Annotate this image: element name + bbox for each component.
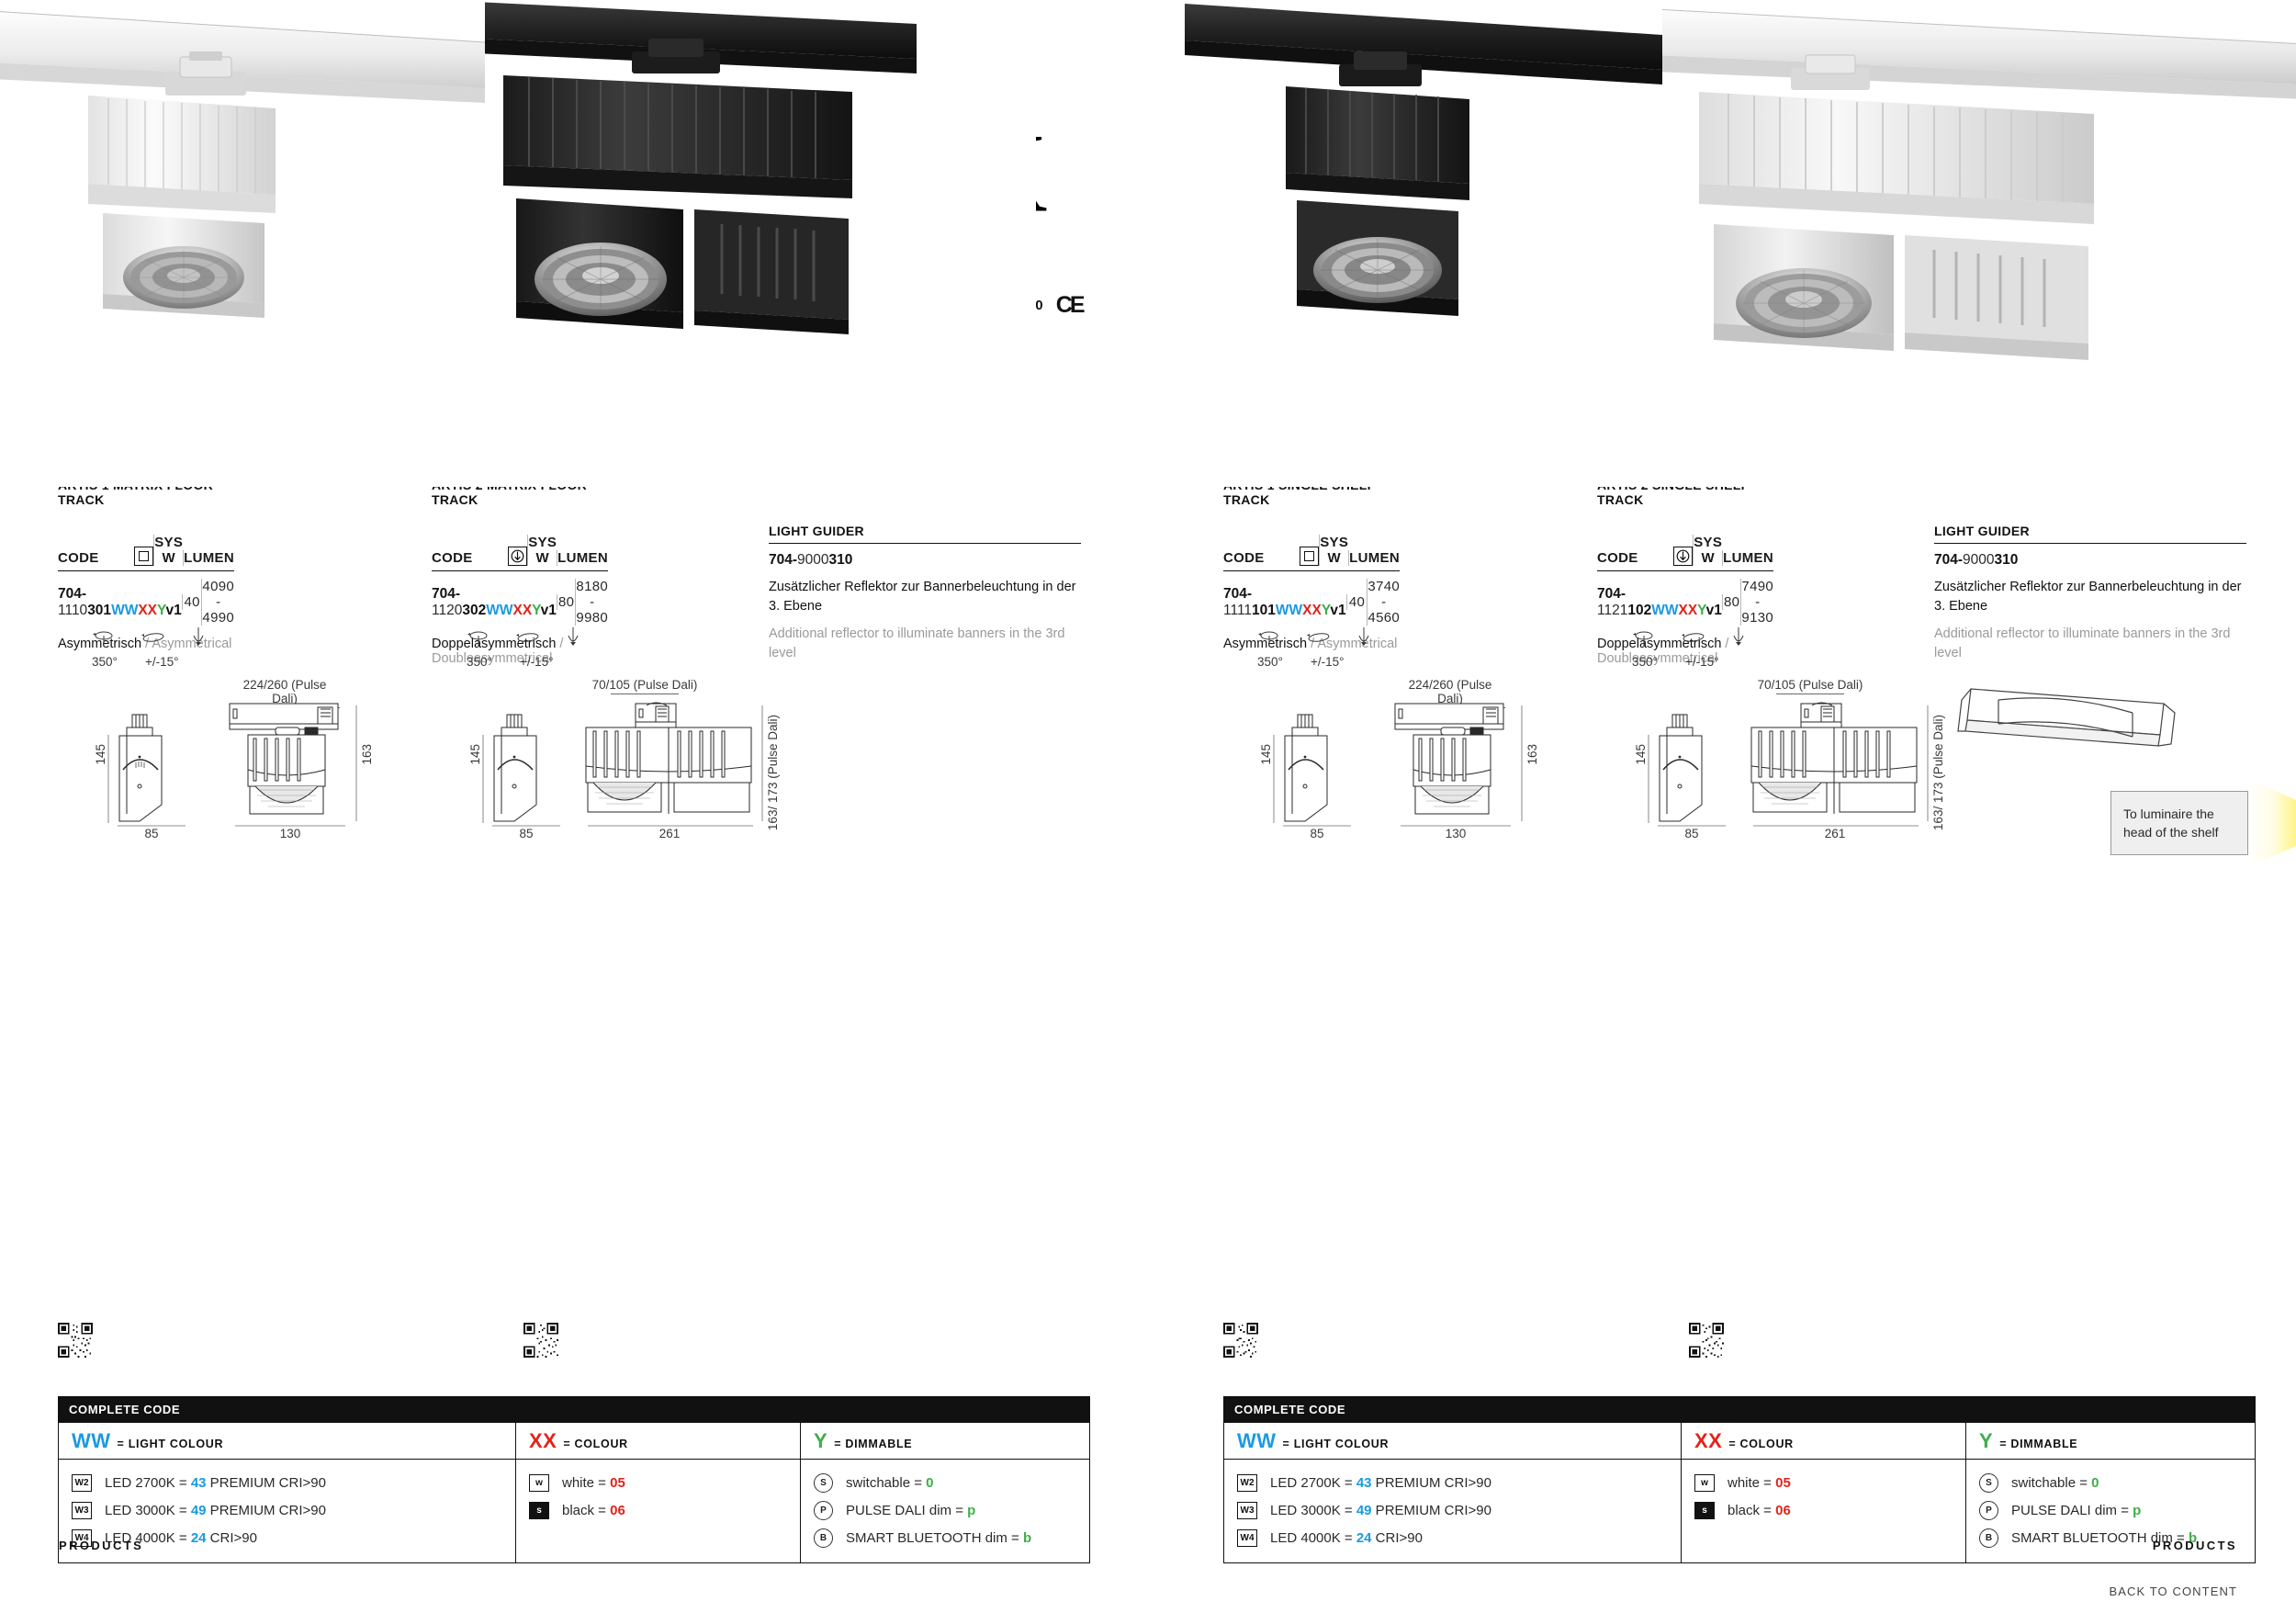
legend-key-y: Y <box>1979 1431 1993 1451</box>
front-width-arrow <box>1658 823 1726 829</box>
side-height-dim: 163/ 173 (Pulse Dali) <box>1931 715 1986 835</box>
col-header-symbol <box>134 547 153 566</box>
legend-body: WW = LIGHT COLOUR W2 LED 2700K = 43 PREM… <box>58 1423 1090 1563</box>
sys-w-value: 80 <box>557 594 576 610</box>
list-item: W3 LED 3000K = 49 PREMIUM CRI>90 <box>1237 1496 1668 1524</box>
col-header-code: CODE <box>1223 550 1300 566</box>
complete-code-legend-left: COMPLETE CODE WW = LIGHT COLOUR W2 LED 2… <box>58 1396 1090 1563</box>
rotation-horizontal-value: 350° <box>1632 655 1674 669</box>
item-value: 24 <box>1356 1530 1372 1546</box>
col-header-sysw: SYS W <box>153 535 183 566</box>
drawing-canvas: 224/260 (Pulse Dali) <box>1257 689 1551 827</box>
item-value: 43 <box>191 1475 207 1491</box>
sys-w-value: 40 <box>182 594 202 610</box>
table-header-row: CODE SYS W LUMEN <box>1597 535 1773 571</box>
legend-label-ww: = LIGHT COLOUR <box>1283 1438 1390 1450</box>
legend-label-xx: = COLOUR <box>563 1438 628 1450</box>
side-height-dim: 163/ 173 (Pulse Dali) <box>766 715 821 835</box>
light-guider-code: 704-9000310 <box>769 552 1081 569</box>
front-view-drawing <box>112 713 191 823</box>
item-tail: PREMIUM CRI>90 <box>207 1503 326 1518</box>
item-name: white = <box>562 1475 610 1491</box>
light-guider-title: LIGHT GUIDER <box>1934 524 2246 544</box>
list-item: W2 LED 2700K = 43 PREMIUM CRI>90 <box>72 1469 502 1496</box>
list-item: s black = 06 <box>529 1496 787 1524</box>
side-width-arrow <box>588 823 753 829</box>
table-header-row: CODE SYS W LUMEN <box>58 535 234 571</box>
rotate-horizontal-icon <box>467 628 490 650</box>
square-optic-icon <box>1300 547 1319 566</box>
legend-key-xx: XX <box>1694 1431 1722 1451</box>
lumen-value: 8180 - 9980 <box>575 579 608 626</box>
item-value: b <box>1023 1530 1031 1546</box>
col-header-sysw: SYS W <box>1693 535 1722 566</box>
rotation-horizontal-value: 350° <box>92 655 134 669</box>
qr-code-artis2-right[interactable] <box>1689 1323 1724 1358</box>
item-value: 24 <box>191 1530 207 1546</box>
list-item: W4 LED 4000K = 24 CRI>90 <box>1237 1524 1668 1551</box>
rotation-icons <box>92 626 386 650</box>
legend-col-colour: XX = COLOUR w white = 05 s black = 06 <box>1682 1423 1966 1562</box>
spec-block-artis1-right: ARTIS 1 SINGLE SHELF TRACK CODE SYS W LU… <box>1223 478 1400 651</box>
product-photo-white-matrix <box>0 0 485 487</box>
led-badge-w2: W2 <box>72 1474 92 1492</box>
legend-key-ww: WW <box>1237 1431 1277 1451</box>
product-code: 704-1121102WWXXYv1 <box>1597 586 1722 619</box>
rotation-labels: 350° +/-15° <box>1257 655 1551 669</box>
item-value: 49 <box>1356 1503 1372 1518</box>
rotation-tilt-value: +/-15° <box>1311 655 1345 669</box>
rotate-tilt-icon <box>1680 628 1707 650</box>
table-row: 704-1111101WWXXYv1 40 3740 - 4560 <box>1223 571 1400 629</box>
callout-box-text: To luminaire the head of the shelf <box>2110 791 2248 855</box>
legend-label-y: = DIMMABLE <box>834 1438 912 1450</box>
technical-drawing-artis2-right: 350° +/-15° 70/105 (Pulse Dali) <box>1632 626 1963 827</box>
light-guider-title: LIGHT GUIDER <box>769 524 1081 544</box>
rotation-labels: 350° +/-15° <box>92 655 386 669</box>
page-left: 042 ARTIS MATRIX TRACK ARTIS MATRIX FLOO… <box>0 0 1148 1624</box>
table-row: 704-1120302WWXXYv1 80 8180 - 9980 <box>432 571 608 629</box>
item-name: LED 3000K = <box>105 1503 191 1518</box>
table-row: 704-1121102WWXXYv1 80 7490 - 9130 <box>1597 571 1773 629</box>
legend-items: w white = 05 s black = 06 <box>516 1460 800 1535</box>
list-item: P PULSE DALI dim = p <box>1979 1496 2242 1524</box>
led-badge-w3: W3 <box>1237 1502 1257 1519</box>
qr-code-artis2-left[interactable] <box>523 1323 558 1358</box>
legend-bar-title: COMPLETE CODE <box>58 1396 1090 1423</box>
col-header-symbol <box>1300 547 1319 566</box>
side-view-drawing <box>582 702 757 823</box>
item-name: PULSE DALI dim = <box>2011 1503 2133 1518</box>
swivel-icon <box>191 626 206 650</box>
col-header-code: CODE <box>1597 550 1673 566</box>
list-item: W2 LED 2700K = 43 PREMIUM CRI>90 <box>1237 1469 1668 1496</box>
top-dimension: 70/105 (Pulse Dali) <box>1753 678 1867 694</box>
item-tail: CRI>90 <box>207 1530 257 1546</box>
item-tail: PREMIUM CRI>90 <box>207 1475 326 1491</box>
rotate-horizontal-icon <box>92 628 116 650</box>
technical-drawing-artis1-left: 350° +/-15° 224/260 (Pulse Dali) <box>92 626 386 827</box>
front-width-arrow <box>118 823 186 829</box>
side-width-arrow <box>1753 823 1919 829</box>
light-guider-code: 704-9000310 <box>1934 552 2246 569</box>
item-value: p <box>967 1503 975 1518</box>
col-header-lumen: LUMEN <box>1722 550 1773 566</box>
light-guider-block-left: LIGHT GUIDER 704-9000310 Zusätzlicher Re… <box>769 524 1081 663</box>
front-width-arrow <box>1283 823 1351 829</box>
side-width-dim: 130 <box>237 827 343 840</box>
item-name: LED 2700K = <box>105 1475 191 1491</box>
col-header-lumen: LUMEN <box>183 550 234 566</box>
item-tail: PREMIUM CRI>90 <box>1372 1503 1491 1518</box>
side-width-dim: 261 <box>591 827 748 840</box>
list-item: B SMART BLUETOOTH dim = b <box>814 1524 1076 1551</box>
double-optic-icon <box>508 547 527 566</box>
list-item: w white = 05 <box>529 1469 787 1496</box>
side-view-drawing <box>228 702 349 823</box>
product-photo-white-shelf <box>1662 0 2296 487</box>
side-height-arrow <box>353 705 360 821</box>
dim-badge-switchable: S <box>1979 1473 1998 1493</box>
catalog-spread: 042 ARTIS MATRIX TRACK ARTIS MATRIX FLOO… <box>0 0 2296 1624</box>
list-item: W3 LED 3000K = 49 PREMIUM CRI>90 <box>72 1496 502 1524</box>
item-name: LED 3000K = <box>1270 1503 1356 1518</box>
dim-badge-bluetooth: B <box>1979 1528 1998 1548</box>
rotation-icons <box>467 626 797 650</box>
front-width-dim: 85 <box>119 827 184 840</box>
led-badge-w2: W2 <box>1237 1474 1257 1492</box>
product-photo-black-shelf <box>1148 0 1662 487</box>
item-name: switchable = <box>846 1475 926 1491</box>
legend-col-dimmable: Y = DIMMABLE S switchable = 0 P PULSE DA… <box>801 1423 1089 1562</box>
dim-badge-pulse-dali: P <box>814 1501 833 1520</box>
item-value: 06 <box>1775 1503 1791 1518</box>
shelf-callout: To luminaire the head of the shelf ARTIS… <box>2110 779 2296 867</box>
legend-body: WW = LIGHT COLOUR W2 LED 2700K = 43 PREM… <box>1223 1423 2256 1563</box>
item-tail: PREMIUM CRI>90 <box>1372 1475 1491 1491</box>
col-header-sysw: SYS W <box>1319 535 1348 566</box>
front-height-arrow <box>479 735 487 823</box>
item-value: 05 <box>1775 1475 1791 1491</box>
legend-bar-title: COMPLETE CODE <box>1223 1396 2256 1423</box>
colour-badge-white: w <box>529 1474 549 1492</box>
light-guider-desc-en: Additional reflector to illuminate banne… <box>769 625 1081 663</box>
legend-items: w white = 05 s black = 06 <box>1682 1460 1965 1535</box>
legend-col-header: Y = DIMMABLE <box>1966 1423 2255 1460</box>
col-header-code: CODE <box>432 550 508 566</box>
rotation-horizontal-value: 350° <box>467 655 509 669</box>
code-table: CODE SYS W LUMEN 704-1120302WWXXYv1 80 8… <box>432 535 608 629</box>
lumen-value: 7490 - 9130 <box>1740 579 1773 626</box>
technical-drawing-artis2-left: 350° +/-15° 70/105 (Pulse Dali) <box>467 626 797 827</box>
side-view-drawing <box>1748 702 1922 823</box>
item-name: white = <box>1728 1475 1775 1491</box>
item-value: 0 <box>926 1475 933 1491</box>
lumen-value: 4090 - 4990 <box>201 579 234 626</box>
product-code: 704-1120302WWXXYv1 <box>432 586 557 619</box>
front-height-arrow <box>105 735 112 823</box>
qr-code-artis1-right[interactable] <box>1223 1323 1258 1358</box>
item-value: 0 <box>2091 1475 2099 1491</box>
item-tail: CRI>90 <box>1372 1530 1423 1546</box>
product-code: 704-1111101WWXXYv1 <box>1223 586 1346 619</box>
front-width-dim: 85 <box>494 827 558 840</box>
side-width-arrow <box>1401 823 1511 829</box>
code-table: CODE SYS W LUMEN 704-1110301WWXXYv1 40 4… <box>58 535 234 629</box>
dim-badge-pulse-dali: P <box>1979 1501 1998 1520</box>
colour-badge-white: w <box>1694 1474 1715 1492</box>
swivel-icon <box>1356 626 1371 650</box>
rotate-tilt-icon <box>514 628 542 650</box>
col-header-symbol <box>1673 547 1693 566</box>
legend-items: W2 LED 2700K = 43 PREMIUM CRI>90 W3 LED … <box>1224 1460 1681 1562</box>
ce-mark-icon: CE <box>1056 292 1083 319</box>
side-view-drawing <box>1393 702 1514 823</box>
item-name: LED 2700K = <box>1270 1475 1356 1491</box>
legend-col-header: XX = COLOUR <box>516 1423 800 1460</box>
footer-left: PRODUCTS <box>59 1539 143 1552</box>
dim-badge-switchable: S <box>814 1473 833 1493</box>
table-header-row: CODE SYS W LUMEN <box>1223 535 1400 571</box>
item-value: 05 <box>610 1475 625 1491</box>
drawing-canvas: 224/260 (Pulse Dali) <box>92 689 386 827</box>
front-view-drawing <box>1652 713 1731 823</box>
light-guider-desc-de: Zusätzlicher Reflektor zur Bannerbeleuch… <box>1934 578 2246 616</box>
light-cone-graphic <box>2248 779 2296 867</box>
rotation-tilt-value: +/-15° <box>145 655 179 669</box>
legend-label-y: = DIMMABLE <box>1999 1438 2077 1450</box>
table-header-row: CODE SYS W LUMEN <box>432 535 608 571</box>
dim-badge-bluetooth: B <box>814 1528 833 1548</box>
col-header-sysw: SYS W <box>527 535 557 566</box>
technical-drawing-artis1-right: 350° +/-15° 224/260 (Pulse Dali) <box>1257 626 1551 827</box>
item-name: black = <box>562 1503 610 1518</box>
complete-code-legend-right: COMPLETE CODE WW = LIGHT COLOUR W2 LED 2… <box>1223 1396 2256 1563</box>
legend-key-y: Y <box>814 1431 827 1451</box>
light-guider-desc-de: Zusätzlicher Reflektor zur Bannerbeleuch… <box>769 578 1081 616</box>
rotate-horizontal-icon <box>1632 628 1656 650</box>
legend-col-header: Y = DIMMABLE <box>801 1423 1089 1460</box>
rotation-labels: 350° +/-15° <box>467 655 797 669</box>
rotate-horizontal-icon <box>1257 628 1281 650</box>
front-width-dim: 85 <box>1660 827 1724 840</box>
item-name: SMART BLUETOOTH dim = <box>846 1530 1023 1546</box>
item-name: black = <box>1728 1503 1775 1518</box>
spec-block-artis1-left: ARTIS 1 MATRIX FLOOR TRACK CODE SYS W LU… <box>58 478 234 651</box>
item-name: PULSE DALI dim = <box>846 1503 967 1518</box>
legend-col-colour: XX = COLOUR w white = 05 s black = 06 <box>516 1423 801 1562</box>
front-height-arrow <box>1270 735 1277 823</box>
led-badge-w3: W3 <box>72 1502 92 1519</box>
rotation-tilt-value: +/-15° <box>1685 655 1719 669</box>
rotate-tilt-icon <box>140 628 167 650</box>
list-item: w white = 05 <box>1694 1469 1953 1496</box>
item-value: 43 <box>1356 1475 1372 1491</box>
legend-col-light-colour: WW = LIGHT COLOUR W2 LED 2700K = 43 PREM… <box>1224 1423 1682 1562</box>
light-guider-desc-en: Additional reflector to illuminate banne… <box>1934 625 2246 663</box>
table-row: 704-1110301WWXXYv1 40 4090 - 4990 <box>58 571 234 629</box>
item-value: 06 <box>610 1503 625 1518</box>
lumen-value: 3740 - 4560 <box>1367 579 1400 626</box>
rotate-tilt-icon <box>1305 628 1333 650</box>
side-height-dim: 163 <box>1525 744 1539 770</box>
legend-label-xx: = COLOUR <box>1728 1438 1794 1450</box>
col-header-code: CODE <box>58 550 134 566</box>
square-optic-icon <box>134 547 153 566</box>
rotation-tilt-value: +/-15° <box>520 655 554 669</box>
side-height-dim: 163 <box>360 744 374 770</box>
swivel-icon <box>566 626 580 650</box>
sys-w-value: 40 <box>1346 594 1367 610</box>
led-badge-w4: W4 <box>1237 1529 1257 1547</box>
front-width-arrow <box>492 823 560 829</box>
drawing-canvas: 70/105 (Pulse Dali) <box>1632 689 1963 827</box>
swivel-icon <box>1731 626 1746 650</box>
rotation-labels: 350° +/-15° <box>1632 655 1963 669</box>
front-height-arrow <box>1645 735 1652 823</box>
footer-right: PRODUCTS <box>2153 1539 2237 1552</box>
legend-col-header: WW = LIGHT COLOUR <box>59 1423 515 1460</box>
top-dimension: 70/105 (Pulse Dali) <box>588 678 702 694</box>
legend-key-ww: WW <box>72 1431 111 1451</box>
colour-badge-black: s <box>1694 1502 1715 1519</box>
qr-code-artis1-left[interactable] <box>58 1323 93 1358</box>
list-item: P PULSE DALI dim = p <box>814 1496 1076 1524</box>
front-width-dim: 85 <box>1285 827 1349 840</box>
double-optic-icon <box>1673 547 1693 566</box>
legend-label-ww: = LIGHT COLOUR <box>118 1438 224 1450</box>
col-header-symbol <box>508 547 527 566</box>
side-width-arrow <box>235 823 345 829</box>
code-table: CODE SYS W LUMEN 704-1121102WWXXYv1 80 7… <box>1597 535 1773 629</box>
back-to-content-link[interactable]: BACK TO CONTENT <box>2109 1585 2237 1598</box>
col-header-lumen: LUMEN <box>557 550 608 566</box>
item-name: LED 4000K = <box>1270 1530 1356 1546</box>
item-value: p <box>2133 1503 2141 1518</box>
legend-col-header: WW = LIGHT COLOUR <box>1224 1423 1681 1460</box>
item-name: switchable = <box>2011 1475 2091 1491</box>
drawing-canvas: 70/105 (Pulse Dali) <box>467 689 797 827</box>
sys-w-value: 80 <box>1722 594 1741 610</box>
legend-col-header: XX = COLOUR <box>1682 1423 1965 1460</box>
code-table: CODE SYS W LUMEN 704-1111101WWXXYv1 40 3… <box>1223 535 1400 629</box>
product-photo-black-matrix <box>485 0 1036 487</box>
rotation-horizontal-value: 350° <box>1257 655 1300 669</box>
colour-badge-black: s <box>529 1502 549 1519</box>
rotation-icons <box>1632 626 1963 650</box>
side-width-dim: 130 <box>1402 827 1509 840</box>
list-item: s black = 06 <box>1694 1496 1953 1524</box>
list-item: S switchable = 0 <box>1979 1469 2242 1496</box>
col-header-lumen: LUMEN <box>1348 550 1400 566</box>
legend-key-xx: XX <box>529 1431 557 1451</box>
rotation-icons <box>1257 626 1551 650</box>
item-value: 49 <box>191 1503 207 1518</box>
legend-items: S switchable = 0 P PULSE DALI dim = p B … <box>801 1460 1089 1562</box>
front-view-drawing <box>1277 713 1356 823</box>
side-height-arrow <box>1518 705 1525 821</box>
front-view-drawing <box>487 713 566 823</box>
list-item: S switchable = 0 <box>814 1469 1076 1496</box>
page-right: 045 ARTIS SHELF TRACK ARTIS SINGLE SHELF… <box>1148 0 2296 1624</box>
side-width-dim: 261 <box>1757 827 1913 840</box>
product-code: 704-1110301WWXXYv1 <box>58 586 182 619</box>
side-height-arrow <box>1924 705 1931 821</box>
side-height-arrow <box>759 705 766 821</box>
